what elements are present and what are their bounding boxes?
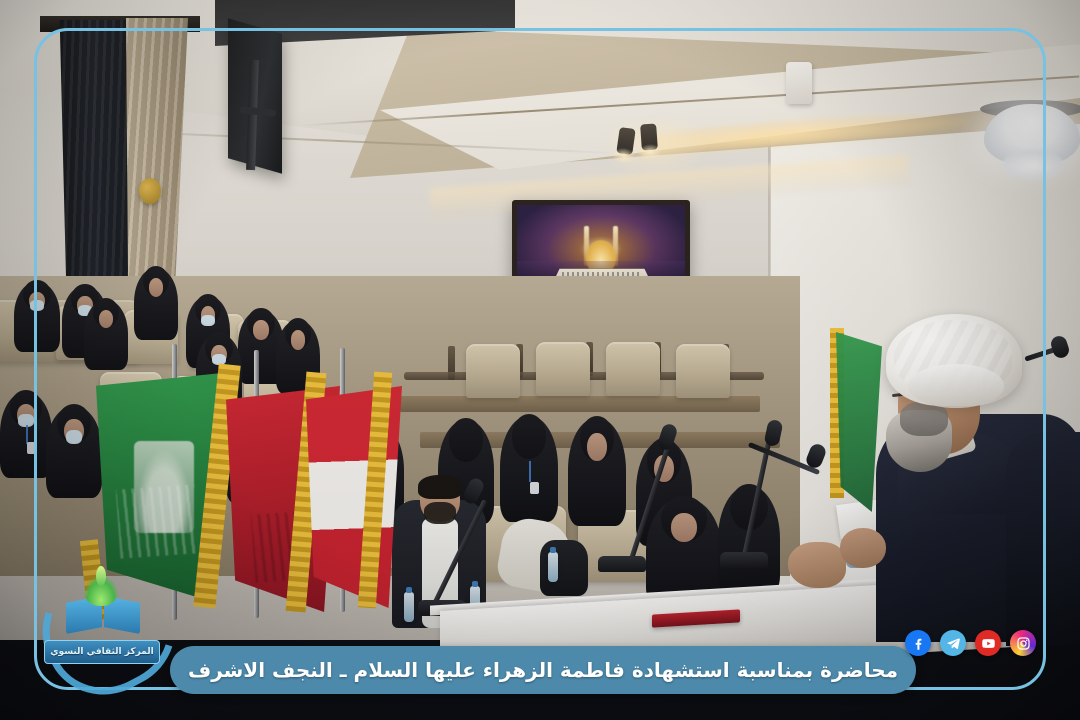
water-bottle — [404, 592, 414, 622]
institution-logo[interactable]: المركز الثقافي النسوي — [40, 556, 162, 682]
seat — [606, 342, 660, 396]
track-spotlight — [640, 123, 658, 150]
seat — [536, 342, 590, 396]
facebook-icon[interactable] — [905, 630, 931, 656]
wall-speaker — [786, 62, 812, 104]
photo-card: المركز الثقافي النسوي محاضرة بمناسبة است… — [0, 0, 1080, 720]
track-spotlight — [616, 127, 635, 155]
seat — [676, 344, 730, 398]
logo-name-text: المركز الثقافي النسوي — [50, 647, 153, 657]
ceiling-lamp-secondary — [1002, 150, 1064, 180]
caption-bar: محاضرة بمناسبة استشهادة فاطمة الزهراء عل… — [170, 646, 916, 694]
cleric-moustache — [900, 402, 948, 436]
logo-flame-icon — [84, 576, 118, 606]
audience-member — [568, 418, 626, 526]
instagram-icon[interactable] — [1010, 630, 1036, 656]
cleric-turban-fold — [908, 364, 1004, 408]
audience-member — [500, 416, 558, 522]
microphone-base — [598, 556, 646, 572]
cleric-hand — [840, 528, 886, 568]
audience-member — [14, 282, 60, 352]
cleric-robe-back — [1006, 432, 1080, 646]
seat — [466, 344, 520, 398]
audience-member — [84, 300, 128, 370]
audience-member — [134, 268, 178, 340]
audience-member — [0, 392, 52, 478]
cleric-speaker — [856, 306, 1080, 640]
youtube-icon[interactable] — [975, 630, 1001, 656]
telegram-icon[interactable] — [940, 630, 966, 656]
audience-member — [46, 406, 102, 498]
water-bottle — [548, 552, 558, 582]
microphone — [1049, 334, 1071, 360]
logo-name-band: المركز الثقافي النسوي — [44, 640, 160, 664]
curtain-tieback — [139, 178, 161, 204]
caption-text: محاضرة بمناسبة استشهادة فاطمة الزهراء عل… — [188, 658, 898, 682]
seat-ledge — [400, 396, 760, 412]
social-icon-bar — [905, 630, 1036, 656]
cleric-hand — [788, 542, 846, 588]
microphone-base — [720, 552, 768, 568]
